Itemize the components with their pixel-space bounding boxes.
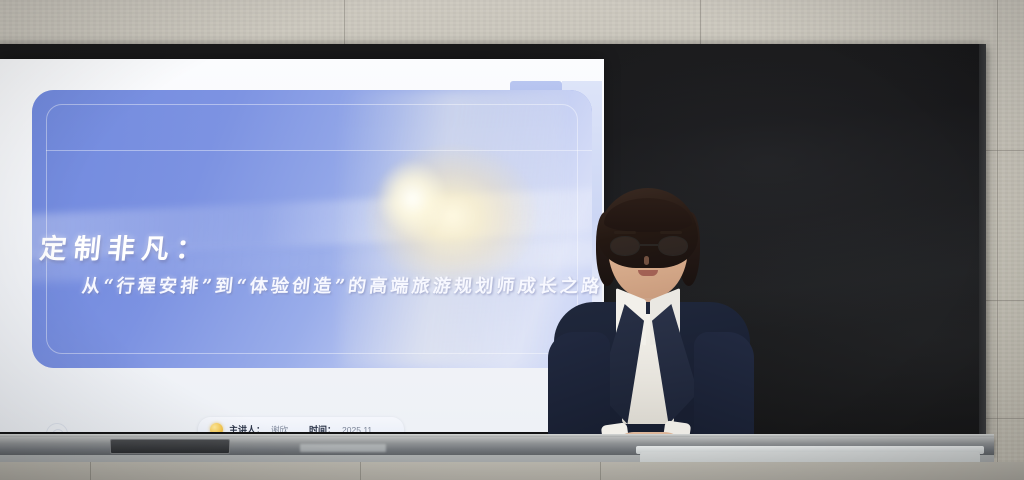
mouth [638, 270, 658, 276]
medal-badge-icon [210, 423, 223, 432]
speaker-label: 主讲人： [229, 423, 265, 432]
wall-tile-seam [997, 0, 998, 480]
wall-tile-seam [985, 150, 1024, 151]
date-value: 2025.11 [342, 425, 372, 433]
slide-card-divider [46, 150, 592, 151]
wall-tile-seam [700, 0, 701, 46]
lens-right [658, 236, 688, 256]
slide-title: 定制非凡： 从“行程安排”到“体验创造”的高端旅游规划师成长之路 [40, 227, 600, 298]
blackboard-eraser [110, 439, 230, 454]
wall-tile-seam [985, 418, 1024, 419]
slide-surface: 定制非凡： 从“行程安排”到“体验创造”的高端旅游规划师成长之路 主讲人： 谢欣… [0, 59, 604, 432]
blackboard-frame-edge [979, 44, 986, 437]
floor-seam [600, 462, 601, 480]
ring-logo-icon [46, 423, 68, 432]
lens-left [610, 236, 640, 256]
eyeglasses-icon [610, 236, 688, 256]
classroom-presentation-photo: 定制非凡： 从“行程安排”到“体验创造”的高端旅游规划师成长之路 主讲人： 谢欣… [0, 0, 1024, 480]
glasses-bridge [640, 244, 658, 246]
slide-title-line-1: 定制非凡： [38, 227, 602, 266]
slide-title-line-2: 从“行程安排”到“体验创造”的高端旅游规划师成长之路 [81, 272, 602, 298]
projection-screen: 定制非凡： 从“行程安排”到“体验创造”的高端旅游规划师成长之路 主讲人： 谢欣… [0, 59, 604, 432]
eyebrow-right [660, 231, 682, 234]
nose [644, 256, 649, 265]
floor-seam [360, 462, 361, 480]
floor-seam [90, 462, 91, 480]
floor-strip [0, 462, 1024, 480]
brand-plate [300, 444, 386, 452]
speaker-name: 谢欣 [271, 424, 288, 433]
wall-tile-seam [985, 300, 1024, 301]
date-label: 时间： [309, 423, 336, 432]
slide-presenter-bar: 主讲人： 谢欣 时间： 2025.11 [198, 417, 404, 432]
eyebrow-left [614, 231, 636, 234]
wall-tile-seam [344, 0, 345, 46]
